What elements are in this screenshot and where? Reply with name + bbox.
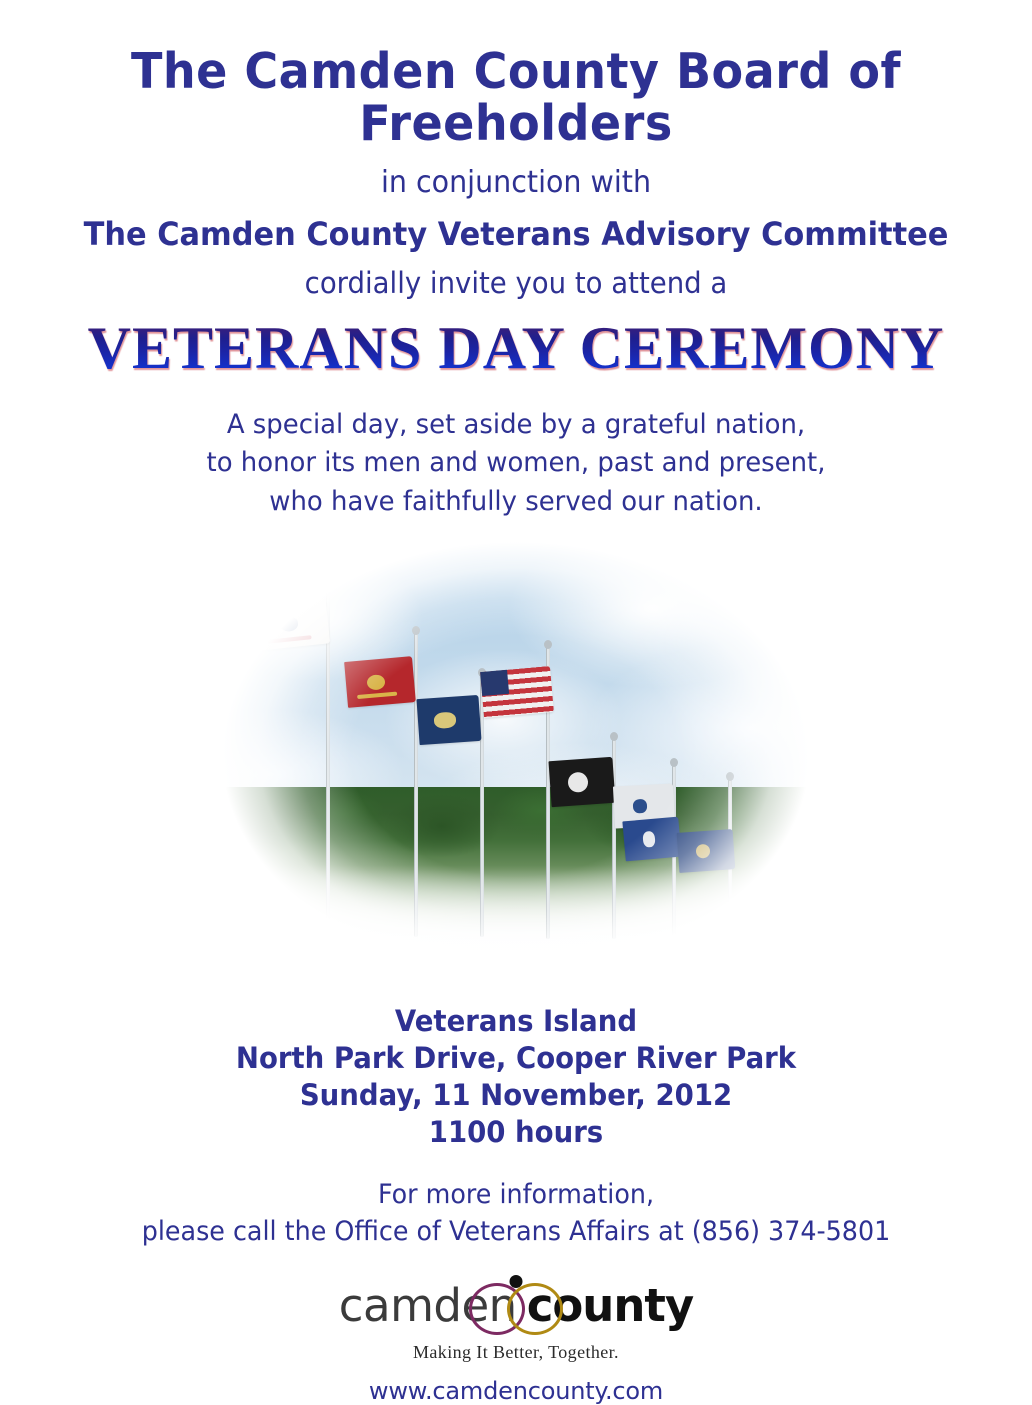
verse-block: A special day, set aside by a grateful n… bbox=[21, 406, 1012, 521]
website-url[interactable]: www.camdencounty.com bbox=[0, 1377, 1032, 1405]
flyer-header: The Camden County Board of Freeholders i… bbox=[0, 0, 1032, 300]
page-subtitle: The Camden County Veterans Advisory Comm… bbox=[26, 217, 1006, 252]
pow-mia-flag-emblem bbox=[567, 772, 588, 793]
army-flag-scroll bbox=[268, 635, 312, 644]
event-details: Veterans Island North Park Drive, Cooper… bbox=[26, 1003, 1006, 1151]
flagpole-2 bbox=[414, 633, 418, 937]
event-venue: Veterans Island bbox=[26, 1003, 1006, 1040]
logo-word-county: county bbox=[527, 1279, 694, 1332]
ceremony-heading-wrap: VETERANS DAY CEREMONY bbox=[0, 318, 1032, 384]
ceremony-heading: VETERANS DAY CEREMONY bbox=[88, 318, 945, 378]
conjunction-line: in conjunction with bbox=[26, 166, 1006, 199]
logo-wordmark: camdencounty bbox=[339, 1276, 693, 1336]
air-force-flag-emblem bbox=[642, 831, 655, 848]
contact-line-2: please call the Office of Veterans Affai… bbox=[31, 1214, 1001, 1250]
army-flag-emblem bbox=[279, 616, 298, 632]
event-address: North Park Drive, Cooper River Park bbox=[26, 1040, 1006, 1077]
flyer-page: The Camden County Board of Freeholders i… bbox=[0, 0, 1032, 1335]
event-time: 1100 hours bbox=[26, 1114, 1006, 1151]
photo-canvas bbox=[206, 535, 826, 995]
coast-guard-flag-emblem bbox=[633, 799, 648, 814]
service-flag bbox=[677, 829, 736, 873]
navy-flag bbox=[416, 695, 481, 745]
logo-tagline: Making It Better, Together. bbox=[0, 1342, 1032, 1363]
contact-line-1: For more information, bbox=[31, 1177, 1001, 1213]
marine-corps-flag-emblem bbox=[366, 674, 385, 691]
page-title: The Camden County Board of Freeholders bbox=[31, 46, 1001, 150]
invitation-line: cordially invite you to attend a bbox=[26, 268, 1006, 300]
flags-photo bbox=[206, 535, 826, 995]
pow-mia-flag bbox=[548, 757, 615, 807]
verse-line-2: to honor its men and women, past and pre… bbox=[21, 444, 1012, 482]
contact-info: For more information, please call the Of… bbox=[31, 1177, 1001, 1250]
service-flag-emblem bbox=[695, 844, 710, 859]
camden-county-logo: camdencounty Making It Better, Together.… bbox=[0, 1276, 1032, 1405]
logo-word-camden: camden bbox=[339, 1279, 517, 1332]
marine-corps-flag bbox=[344, 656, 416, 708]
marine-corps-flag-scroll bbox=[357, 691, 398, 699]
verse-line-1: A special day, set aside by a grateful n… bbox=[21, 406, 1012, 444]
navy-flag-emblem bbox=[434, 711, 457, 728]
army-flag bbox=[256, 597, 330, 650]
united-states-flag-canton bbox=[480, 670, 509, 696]
photo-bottom-fade bbox=[206, 865, 826, 995]
united-states-flag bbox=[480, 666, 554, 718]
verse-line-3: who have faithfully served our nation. bbox=[21, 483, 1012, 521]
air-force-flag bbox=[622, 817, 681, 862]
event-date: Sunday, 11 November, 2012 bbox=[26, 1077, 1006, 1114]
